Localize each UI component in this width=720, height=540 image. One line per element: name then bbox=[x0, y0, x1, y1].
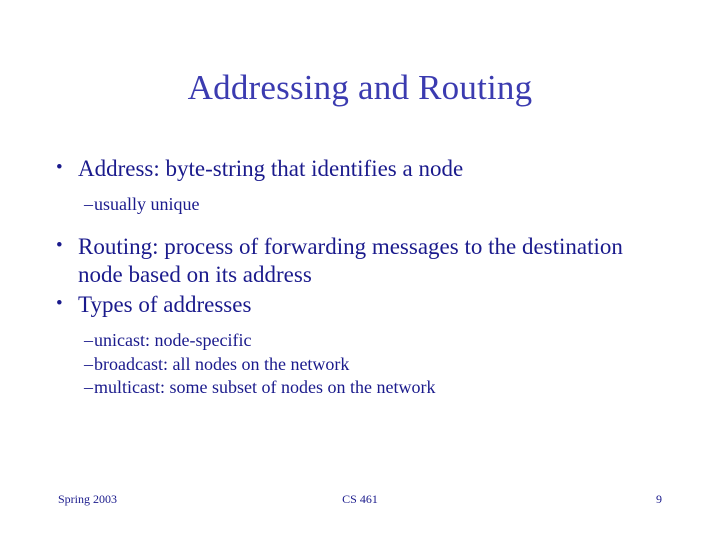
bullet-marker: – bbox=[48, 353, 94, 376]
bullet-item: – broadcast: all nodes on the network bbox=[48, 353, 668, 376]
bullet-item: – usually unique bbox=[48, 193, 668, 216]
spacer bbox=[48, 185, 668, 193]
slide: Addressing and Routing • Address: byte-s… bbox=[0, 0, 720, 540]
bullet-text: usually unique bbox=[94, 193, 668, 216]
bullet-text: multicast: some subset of nodes on the n… bbox=[94, 376, 668, 399]
slide-title: Addressing and Routing bbox=[0, 68, 720, 108]
bullet-text: Address: byte-string that identifies a n… bbox=[78, 155, 668, 183]
bullet-marker: • bbox=[48, 291, 78, 317]
bullet-item: • Types of addresses bbox=[48, 291, 668, 319]
bullet-text: broadcast: all nodes on the network bbox=[94, 353, 668, 376]
slide-footer: Spring 2003 CS 461 9 bbox=[0, 492, 720, 512]
bullet-marker: – bbox=[48, 376, 94, 399]
footer-course: CS 461 bbox=[0, 492, 720, 507]
bullet-item: – unicast: node-specific bbox=[48, 329, 668, 352]
bullet-item: • Routing: process of forwarding message… bbox=[48, 233, 668, 289]
bullet-text: Routing: process of forwarding messages … bbox=[78, 233, 668, 289]
bullet-item: • Address: byte-string that identifies a… bbox=[48, 155, 668, 183]
bullet-item: – multicast: some subset of nodes on the… bbox=[48, 376, 668, 399]
bullet-text: unicast: node-specific bbox=[94, 329, 668, 352]
bullet-marker: – bbox=[48, 329, 94, 352]
bullet-marker: • bbox=[48, 155, 78, 181]
slide-body: • Address: byte-string that identifies a… bbox=[48, 155, 668, 400]
spacer bbox=[48, 217, 668, 233]
spacer bbox=[48, 321, 668, 329]
bullet-marker: – bbox=[48, 193, 94, 216]
bullet-text: Types of addresses bbox=[78, 291, 668, 319]
bullet-marker: • bbox=[48, 233, 78, 259]
slide-number: 9 bbox=[656, 492, 662, 507]
